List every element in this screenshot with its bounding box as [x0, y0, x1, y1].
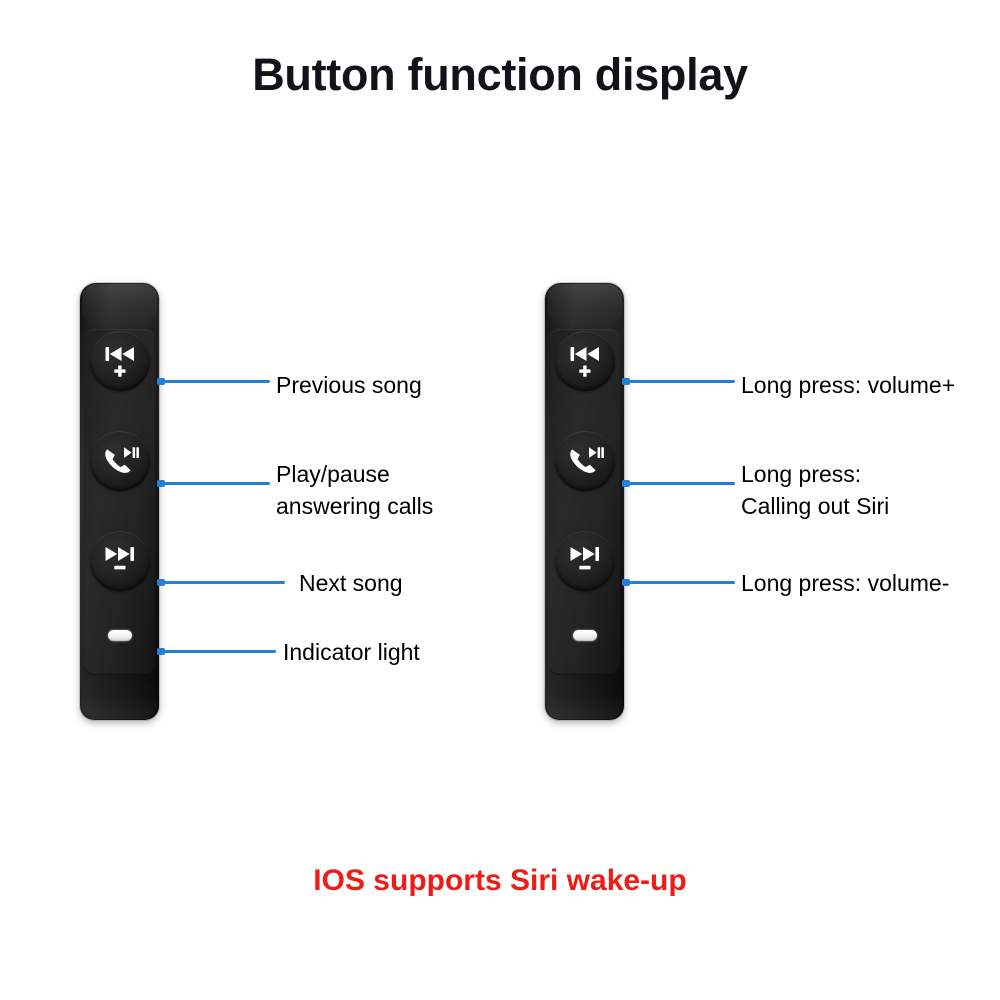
leader-line-previous-left: [158, 380, 270, 383]
call-play-pause-icon: [565, 443, 605, 479]
call-play-pause-icon: [100, 443, 140, 479]
play-pause-call-button-right[interactable]: [555, 431, 615, 491]
label-play-pause: Play/pause answering calls: [276, 458, 433, 522]
footer-note: IOS supports Siri wake-up: [0, 866, 1000, 896]
indicator-light-led-left: [108, 630, 132, 641]
label-previous-song: Previous song: [276, 370, 422, 400]
diagram-canvas: Button function display: [0, 0, 1000, 1000]
device-bottom-gloss: [82, 675, 157, 719]
device-bottom-gloss: [547, 675, 622, 719]
leader-line-indicator-left: [158, 650, 276, 653]
remote-device-right: [545, 283, 624, 720]
next-track-icon: [100, 544, 140, 578]
page-title: Button function display: [0, 52, 1000, 97]
previous-track-icon: [100, 344, 140, 378]
label-next-song: Next song: [299, 568, 403, 598]
next-track-icon: [565, 544, 605, 578]
label-indicator-light: Indicator light: [283, 637, 420, 667]
indicator-light-led-right: [573, 630, 597, 641]
next-track-button-right[interactable]: [555, 531, 615, 591]
play-pause-call-button-left[interactable]: [90, 431, 150, 491]
previous-track-button-right[interactable]: [555, 331, 615, 391]
next-track-button-left[interactable]: [90, 531, 150, 591]
remote-device-left: [80, 283, 159, 720]
previous-track-button-left[interactable]: [90, 331, 150, 391]
device-top-gloss: [547, 284, 622, 330]
leader-line-play-left: [158, 482, 270, 485]
device-top-gloss: [82, 284, 157, 330]
previous-track-icon: [565, 344, 605, 378]
label-long-press-siri: Long press: Calling out Siri: [741, 458, 889, 522]
leader-line-play-right: [623, 482, 735, 485]
leader-line-previous-right: [623, 380, 735, 383]
leader-line-next-left: [158, 581, 285, 584]
leader-line-next-right: [623, 581, 735, 584]
label-long-press-volume-down: Long press: volume-: [741, 568, 949, 598]
label-long-press-volume-up: Long press: volume+: [741, 370, 955, 400]
